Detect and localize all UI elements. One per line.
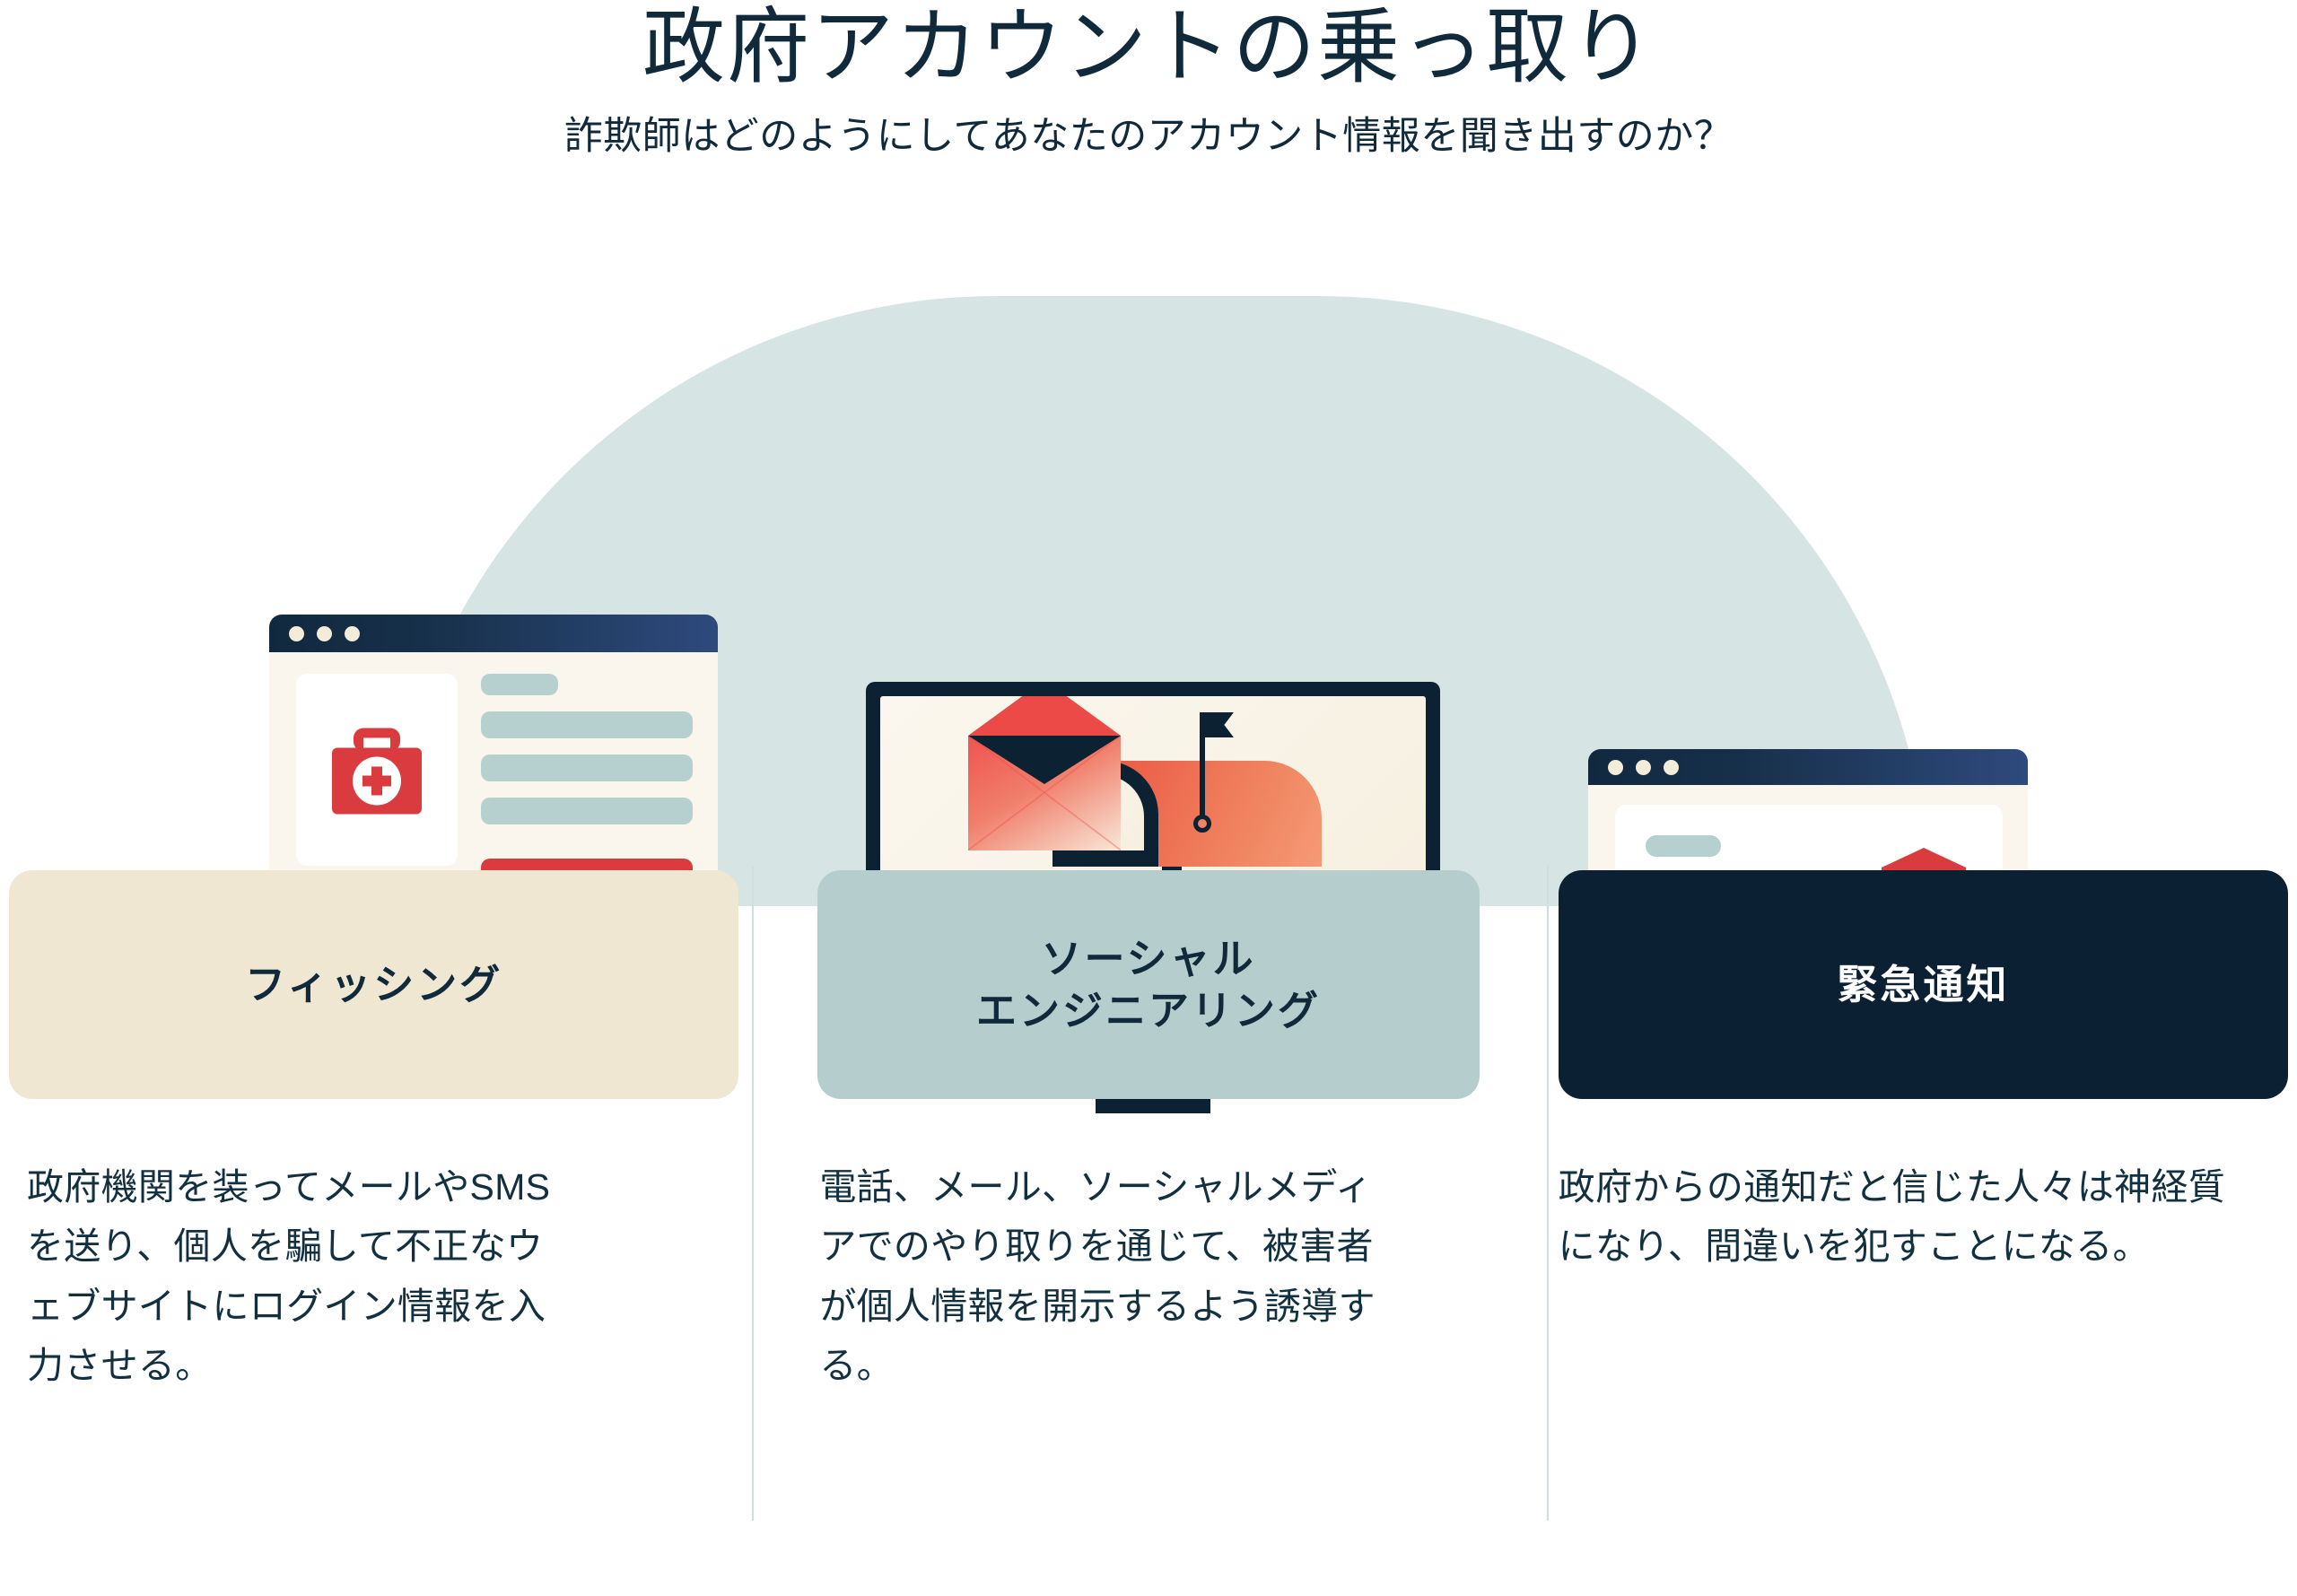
- illustration-band: [0, 269, 2297, 888]
- body-text-social-engineering: 電話、メール、ソーシャルメディアでのやり取りを通じて、被害者が個人情報を開示する…: [765, 1157, 1531, 1396]
- card-row: フィッシング ソーシャル エンジニアリング 緊急通知: [0, 870, 2297, 1099]
- placeholder-line: [481, 798, 693, 824]
- card-urgent-notice[interactable]: 緊急通知: [1559, 870, 2288, 1099]
- body-text-urgent-notice: 政府からの通知だと信じた人々は神経質になり、間違いを犯すことになる。: [1532, 1157, 2297, 1277]
- card-title-line-2: エンジニアリング: [976, 985, 1321, 1037]
- window-dot-close-icon: [289, 626, 304, 641]
- window-dot-maximize-icon: [1664, 760, 1679, 775]
- page-title: 政府アカウントの乗っ取り: [0, 4, 2297, 92]
- browser-titlebar: [269, 615, 718, 652]
- column-urgent-notice: 緊急通知: [1532, 870, 2297, 1099]
- placeholder-line: [481, 754, 693, 781]
- window-dot-maximize-icon: [345, 626, 360, 641]
- browser-content-panel: [296, 674, 458, 866]
- card-phishing[interactable]: フィッシング: [9, 870, 738, 1099]
- placeholder-line: [1646, 835, 1721, 857]
- card-title-social-engineering: ソーシャル エンジニアリング: [976, 933, 1321, 1036]
- page-subtitle: 詐欺師はどのようにしてあなたのアカウント情報を聞き出すのか？: [0, 112, 2297, 162]
- card-social-engineering[interactable]: ソーシャル エンジニアリング: [817, 870, 1479, 1099]
- body-column-urgent-notice: 政府からの通知だと信じた人々は神経質になり、間違いを犯すことになる。: [1532, 1157, 2297, 1396]
- window-dot-close-icon: [1608, 760, 1623, 775]
- browser-titlebar: [1588, 749, 2028, 785]
- card-title-phishing: フィッシング: [245, 959, 502, 1011]
- monitor-stand-foot: [1096, 1097, 1210, 1113]
- column-social-engineering: ソーシャル エンジニアリング: [765, 870, 1531, 1099]
- header: 政府アカウントの乗っ取り 詐欺師はどのようにしてあなたのアカウント情報を聞き出す…: [0, 0, 2297, 162]
- card-title-line-1: ソーシャル: [976, 933, 1321, 985]
- infographic-page: 政府アカウントの乗っ取り 詐欺師はどのようにしてあなたのアカウント情報を聞き出す…: [0, 0, 2297, 1596]
- body-column-social-engineering: 電話、メール、ソーシャルメディアでのやり取りを通じて、被害者が個人情報を開示する…: [765, 1157, 1531, 1396]
- window-dot-minimize-icon: [1636, 760, 1651, 775]
- browser-window-first-aid: [269, 615, 718, 884]
- body-column-phishing: 政府機関を装ってメールやSMSを送り、個人を騙して不正なウェブサイトにログイン情…: [0, 1157, 765, 1396]
- placeholder-line: [481, 674, 558, 695]
- window-dot-minimize-icon: [317, 626, 332, 641]
- mailbox-flag-icon: [1200, 712, 1234, 737]
- mailbox-flag-knob: [1193, 815, 1211, 833]
- first-aid-kit-icon: [327, 725, 427, 823]
- body-text-phishing: 政府機関を装ってメールやSMSを送り、個人を騙して不正なウェブサイトにログイン情…: [0, 1157, 765, 1396]
- browser-placeholder-lines: [481, 674, 693, 884]
- envelope-flap: [968, 696, 1121, 736]
- placeholder-line: [481, 711, 693, 738]
- body-text-row: 政府機関を装ってメールやSMSを送り、個人を騙して不正なウェブサイトにログイン情…: [0, 1157, 2297, 1396]
- column-phishing: フィッシング: [0, 870, 765, 1099]
- card-title-urgent-notice: 緊急通知: [1837, 959, 2009, 1011]
